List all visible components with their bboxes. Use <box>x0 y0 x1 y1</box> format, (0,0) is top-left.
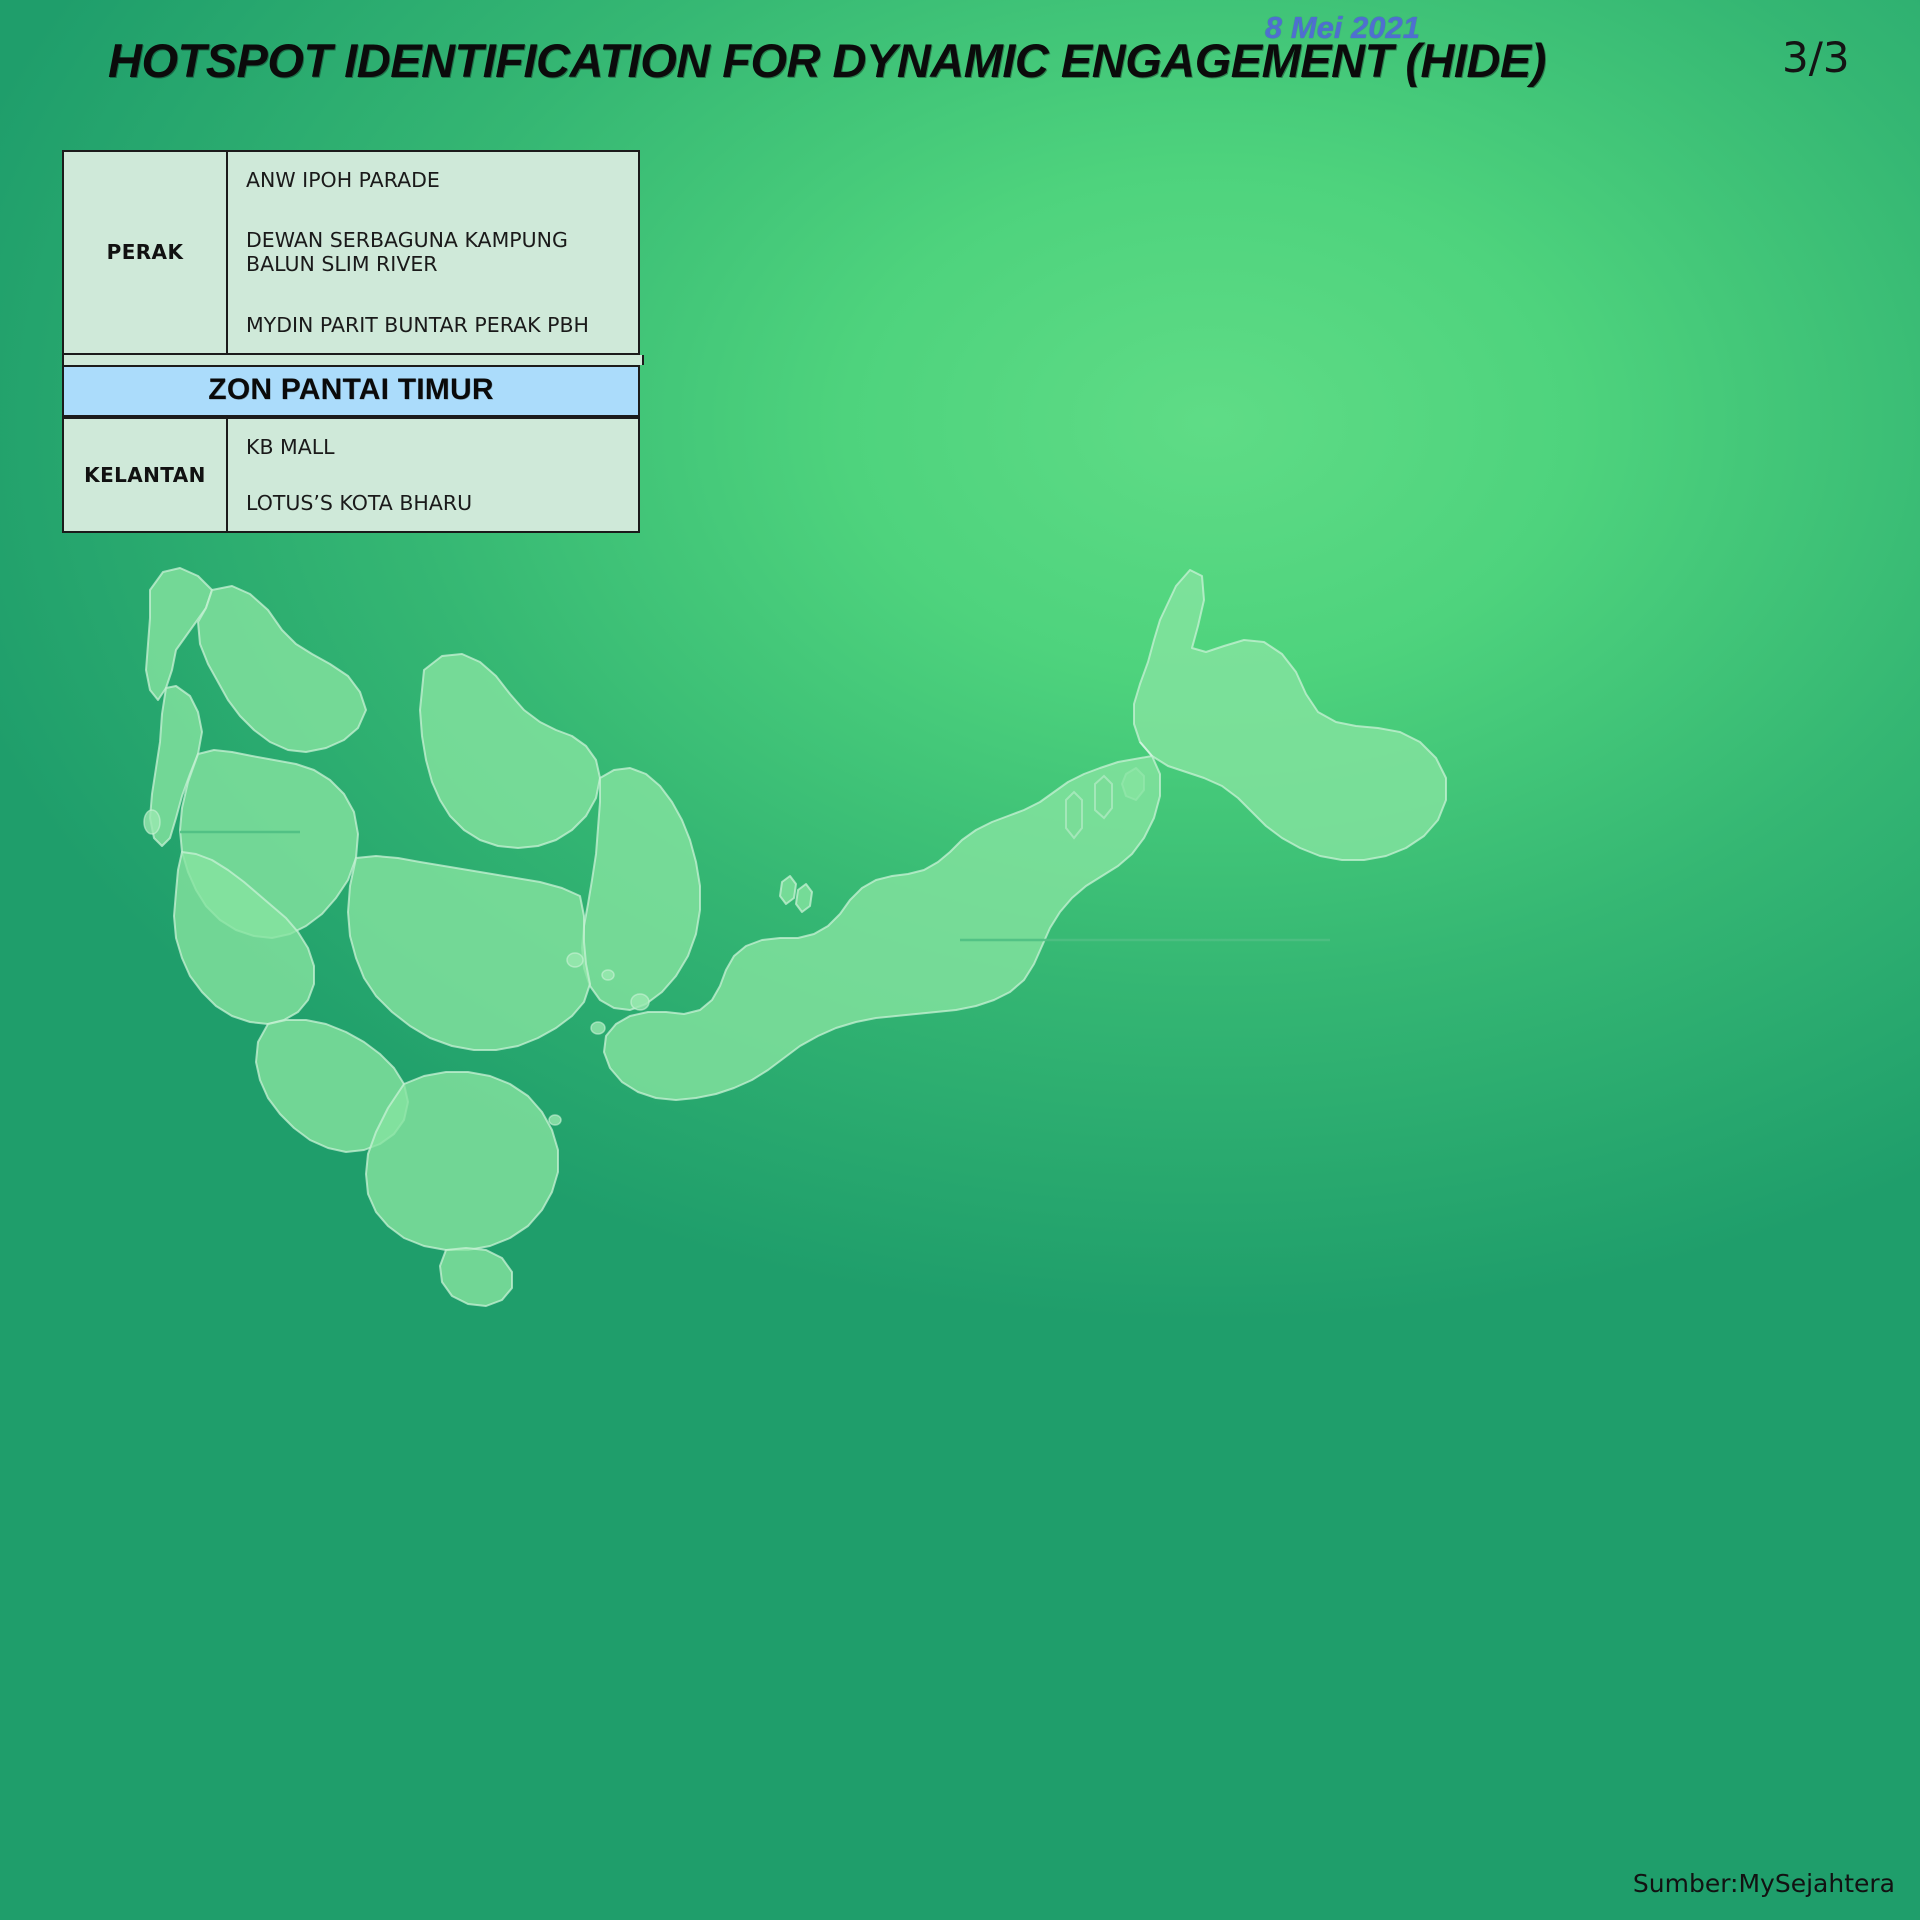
region-pahang <box>348 856 590 1050</box>
hotspot-table-panel: PERAK ANW IPOH PARADE DEWAN SERBAGUNA KA… <box>62 150 640 533</box>
east-malaysia-group <box>604 570 1446 1100</box>
perak-table: PERAK ANW IPOH PARADE DEWAN SERBAGUNA KA… <box>62 150 640 355</box>
island-small-4 <box>549 1115 561 1125</box>
list-item: KB MALL <box>246 435 638 459</box>
island-small-3 <box>591 1022 605 1034</box>
page-title: HOTSPOT IDENTIFICATION FOR DYNAMIC ENGAG… <box>108 33 1546 88</box>
island-penang <box>144 810 160 834</box>
page-counter: 3/3 <box>1782 33 1850 82</box>
coastal-bit-1 <box>780 876 796 904</box>
region-brunei-enclave-b <box>1066 792 1082 838</box>
kelantan-table: KELANTAN KB MALL LOTUS’S KOTA BHARU <box>62 417 640 533</box>
list-item: DEWAN SERBAGUNA KAMPUNG <box>246 228 638 252</box>
region-kedah <box>198 586 366 752</box>
list-item: MYDIN PARIT BUNTAR PERAK PBH <box>246 313 638 337</box>
region-johor-south-tip <box>440 1248 512 1306</box>
map-svg <box>0 560 1920 1560</box>
region-johor <box>366 1072 558 1250</box>
state-name-cell: KELANTAN <box>63 418 227 532</box>
table-row: KELANTAN KB MALL LOTUS’S KOTA BHARU <box>63 418 639 532</box>
region-brunei-enclave-a <box>1095 776 1112 818</box>
source-label: Sumber:MySejahtera <box>1633 1869 1895 1898</box>
coastal-bit-2 <box>796 884 812 912</box>
island-langkawi <box>631 994 649 1010</box>
malaysia-map <box>0 560 1920 1560</box>
location-list-cell: KB MALL LOTUS’S KOTA BHARU <box>227 418 639 532</box>
zone-banner: ZON PANTAI TIMUR <box>62 365 640 417</box>
slide-root: 8 Mei 2021 HOTSPOT IDENTIFICATION FOR DY… <box>0 0 1920 1920</box>
list-item: LOTUS’S KOTA BHARU <box>246 491 638 515</box>
table-spacer <box>62 355 644 365</box>
state-name-cell: PERAK <box>63 151 227 354</box>
list-item: ANW IPOH PARADE <box>246 168 638 192</box>
island-small-1 <box>567 953 583 967</box>
spacer <box>246 192 638 228</box>
region-kelantan <box>420 654 600 848</box>
island-small-2 <box>602 970 614 980</box>
table-row: PERAK ANW IPOH PARADE DEWAN SERBAGUNA KA… <box>63 151 639 354</box>
list-item: BALUN SLIM RIVER <box>246 252 638 276</box>
spacer <box>246 459 638 491</box>
location-list-cell: ANW IPOH PARADE DEWAN SERBAGUNA KAMPUNG … <box>227 151 639 354</box>
peninsular-malaysia-group <box>144 568 700 1306</box>
region-sabah <box>1134 570 1446 860</box>
spacer <box>246 277 638 313</box>
region-terengganu <box>582 768 700 1010</box>
